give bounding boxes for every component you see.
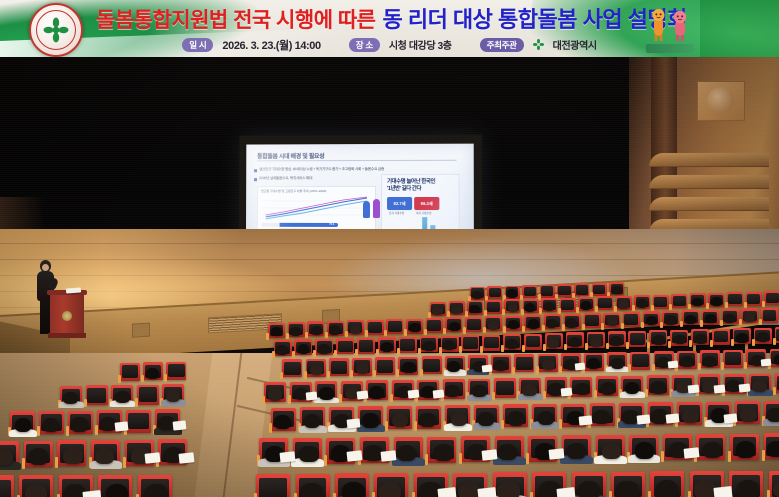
right-headline: 기대수명 늘어난 한국인 '1년반' 길다 간다 bbox=[387, 179, 454, 193]
audience-member bbox=[646, 316, 657, 325]
audience-handout bbox=[477, 487, 496, 497]
wall-slat bbox=[649, 197, 769, 211]
audience-handout bbox=[433, 389, 445, 398]
theater-seat[interactable] bbox=[746, 292, 762, 306]
audience-member bbox=[665, 315, 676, 324]
place-value: 시청 대강당 3층 bbox=[389, 37, 452, 52]
audience-member bbox=[115, 391, 130, 403]
audience-handout bbox=[575, 362, 586, 370]
audience-member bbox=[674, 335, 686, 345]
theater-seat[interactable] bbox=[628, 331, 646, 347]
audience-member bbox=[0, 449, 13, 465]
theater-seat[interactable] bbox=[282, 359, 302, 377]
audience-member bbox=[685, 315, 696, 324]
audience-member bbox=[469, 305, 480, 314]
audience-member bbox=[593, 410, 610, 424]
audience-member bbox=[508, 304, 519, 313]
audience-handout bbox=[279, 451, 295, 463]
audience-member bbox=[616, 481, 638, 497]
audience-member bbox=[342, 482, 364, 497]
audience-member bbox=[362, 413, 379, 427]
left-chart-caption: 연도별 기대수명 및 고령인구 비율 추이 (1970~2023) bbox=[261, 189, 327, 193]
audience-member bbox=[29, 448, 48, 464]
audience-member bbox=[397, 445, 416, 461]
theater-seat[interactable] bbox=[461, 335, 479, 351]
theater-seat[interactable] bbox=[487, 286, 502, 299]
theater-seat[interactable] bbox=[426, 318, 443, 333]
audience-member bbox=[711, 297, 722, 306]
audience-member bbox=[63, 448, 82, 464]
audience-handout bbox=[347, 418, 361, 428]
theater-seat[interactable] bbox=[560, 298, 576, 312]
slide-title-rule bbox=[257, 160, 456, 162]
audience-member bbox=[508, 411, 525, 425]
theater-seat[interactable] bbox=[357, 338, 375, 354]
audience-member bbox=[724, 314, 735, 323]
audience-handout bbox=[173, 421, 187, 431]
audience-member bbox=[409, 323, 420, 332]
audience-handout bbox=[438, 488, 457, 497]
theater-seat[interactable] bbox=[671, 294, 687, 308]
audience-member bbox=[268, 388, 283, 400]
theater-seat[interactable] bbox=[86, 385, 108, 405]
podium-papers bbox=[66, 287, 81, 293]
audience-member bbox=[300, 483, 322, 497]
audience-member bbox=[276, 345, 288, 355]
audience-handout bbox=[683, 447, 699, 459]
audience-handout bbox=[305, 392, 317, 401]
kpi-box-male: 82.7세 bbox=[387, 197, 412, 210]
theater-seat[interactable] bbox=[723, 350, 743, 368]
audience-member bbox=[478, 412, 495, 426]
audience-member bbox=[567, 443, 586, 459]
audience-member bbox=[703, 356, 716, 367]
place-label-pill: 장 소 bbox=[349, 38, 380, 52]
mascot-wordmark bbox=[646, 44, 694, 53]
theater-seat[interactable] bbox=[137, 385, 159, 405]
audience-member bbox=[635, 442, 654, 458]
slide-bullet-2: 2026년 실제돌봄수요, 복지서비스 확대 bbox=[259, 176, 312, 181]
audience-member bbox=[15, 418, 32, 432]
audience-handout bbox=[556, 487, 575, 497]
audience-member bbox=[318, 344, 330, 354]
kpi-box-female: 86.3세 bbox=[414, 197, 439, 210]
audience-member bbox=[522, 384, 537, 396]
host-value: 대전광역시 bbox=[553, 37, 597, 52]
audience-member bbox=[656, 480, 678, 497]
audience-handout bbox=[713, 384, 725, 393]
audience-handout bbox=[407, 390, 419, 399]
audience-member bbox=[740, 408, 757, 422]
audience-member bbox=[601, 382, 616, 394]
audience-member bbox=[378, 482, 400, 497]
audience-member bbox=[95, 448, 114, 464]
audience-handout bbox=[482, 364, 493, 372]
audience-member bbox=[610, 336, 622, 346]
theater-seat[interactable] bbox=[256, 474, 290, 497]
audience-member bbox=[402, 362, 415, 373]
audience-handout bbox=[668, 360, 679, 368]
audience-member bbox=[329, 325, 340, 334]
mascot-orange-icon bbox=[650, 8, 667, 42]
wooden-podium bbox=[50, 290, 84, 338]
audience-member bbox=[392, 413, 409, 427]
slide-title: 통합돌봄 시대 배경 및 필요성 bbox=[257, 151, 324, 160]
audience-member bbox=[423, 341, 435, 351]
left-line-chart bbox=[262, 195, 371, 221]
theater-seat[interactable] bbox=[514, 354, 534, 372]
podium-emblem-icon bbox=[62, 311, 72, 321]
audience-member bbox=[767, 441, 779, 457]
audience-handout bbox=[83, 490, 102, 497]
left-bar-item: 72.3 bbox=[262, 223, 371, 228]
audience-member bbox=[43, 418, 60, 432]
audience-member bbox=[767, 408, 779, 422]
audience-member bbox=[612, 286, 622, 294]
audience-member bbox=[350, 325, 361, 334]
theater-seat[interactable] bbox=[653, 295, 669, 309]
audience-member bbox=[703, 442, 722, 458]
theater-seat[interactable] bbox=[524, 334, 542, 350]
audience-member bbox=[590, 337, 602, 347]
audience-member bbox=[569, 337, 581, 347]
audience-member bbox=[271, 327, 282, 336]
audience-handout bbox=[724, 413, 738, 423]
theater-seat[interactable] bbox=[522, 285, 537, 298]
audience-member bbox=[744, 313, 755, 322]
audience-member bbox=[472, 385, 487, 397]
theater-seat[interactable] bbox=[386, 319, 403, 334]
audience-member bbox=[587, 358, 600, 369]
theater-seat[interactable] bbox=[727, 292, 743, 306]
host-label-pill: 주최주관 bbox=[480, 38, 524, 52]
audience-handout bbox=[579, 415, 593, 425]
theater-seat[interactable] bbox=[375, 357, 395, 375]
audience-member bbox=[653, 335, 665, 345]
audience-handout bbox=[714, 486, 733, 497]
theater-seat[interactable] bbox=[367, 320, 384, 335]
theater-seat[interactable] bbox=[336, 338, 354, 354]
theater-seat[interactable] bbox=[126, 410, 151, 433]
audience-member bbox=[451, 412, 468, 426]
wall-slat bbox=[649, 153, 769, 167]
audience-member bbox=[106, 484, 128, 497]
audience-member bbox=[356, 363, 369, 374]
audience-member bbox=[736, 441, 755, 457]
theater-seat[interactable] bbox=[597, 296, 613, 310]
audience-member bbox=[145, 484, 167, 497]
audience-member bbox=[146, 368, 159, 379]
theater-seat[interactable] bbox=[166, 362, 186, 380]
audience-member bbox=[695, 334, 707, 344]
theater-seat[interactable] bbox=[399, 337, 417, 353]
theater-seat[interactable] bbox=[557, 284, 572, 297]
audience-member bbox=[369, 386, 384, 398]
audience-member bbox=[63, 392, 78, 404]
audience-member bbox=[447, 361, 460, 372]
audience-handout bbox=[179, 452, 195, 464]
audience-handout bbox=[637, 414, 651, 424]
audience-member bbox=[542, 359, 555, 370]
audience-member bbox=[611, 358, 624, 369]
audience-member bbox=[737, 480, 759, 497]
audience-member bbox=[449, 322, 460, 331]
theater-seat[interactable] bbox=[422, 356, 442, 374]
audience-member bbox=[607, 317, 618, 326]
audience-member bbox=[547, 338, 559, 348]
audience-member bbox=[310, 364, 323, 375]
audience-member bbox=[508, 320, 519, 329]
theater-seat[interactable] bbox=[540, 285, 555, 298]
audience-member bbox=[528, 319, 539, 328]
audience-member bbox=[705, 314, 716, 323]
audience-member bbox=[290, 327, 301, 336]
audience-member bbox=[494, 360, 507, 371]
audience-member bbox=[319, 387, 334, 399]
theater-seat[interactable] bbox=[592, 283, 607, 296]
theater-seat[interactable] bbox=[465, 317, 482, 332]
wall-circle-panel bbox=[697, 81, 745, 121]
audience-member bbox=[651, 381, 666, 393]
audience-handout bbox=[688, 385, 700, 394]
audience-member bbox=[381, 342, 393, 352]
host-logo-icon bbox=[533, 39, 544, 50]
kpi-label-male: 남자 기대수명 bbox=[389, 211, 404, 215]
audience-member bbox=[736, 333, 748, 343]
audience-handout bbox=[760, 358, 771, 366]
audience-member bbox=[680, 356, 693, 367]
audience-member bbox=[311, 326, 322, 335]
auditorium-hall: 통합돌봄 시대 배경 및 필요성 생산인구 기대수명 향상, 65세이상 노령 … bbox=[0, 57, 779, 497]
audience-member bbox=[618, 300, 629, 309]
audience-handout bbox=[115, 421, 129, 431]
audience-member bbox=[497, 481, 519, 497]
audience-member bbox=[575, 383, 590, 395]
audience-handout bbox=[560, 387, 572, 396]
audience-member bbox=[692, 298, 703, 307]
right-headline-line2: '1년반' 길다 간다 bbox=[387, 186, 421, 192]
audience-member bbox=[637, 299, 648, 308]
audience-member bbox=[602, 443, 621, 459]
slide-bullet-1: 생산인구 기대수명 향상, 65세이상 노령 + 독거가구수 증가 + 초고령화… bbox=[259, 167, 384, 172]
audience-member bbox=[298, 344, 310, 354]
audience-member bbox=[299, 446, 318, 462]
audience-member bbox=[757, 332, 769, 342]
audience-member bbox=[166, 390, 181, 402]
audience-member bbox=[507, 289, 517, 297]
audience-member bbox=[682, 409, 699, 423]
banner-title-red: 돌봄통합지원법 전국 시행에 따른 bbox=[96, 9, 375, 32]
wall-slat bbox=[649, 175, 769, 189]
audience-handout bbox=[481, 449, 497, 461]
theater-seat[interactable] bbox=[761, 308, 778, 323]
audience-member bbox=[625, 382, 640, 394]
theater-seat[interactable] bbox=[486, 300, 502, 314]
theater-seat[interactable] bbox=[584, 313, 601, 328]
audience-member bbox=[25, 484, 47, 497]
audience-member bbox=[525, 303, 536, 312]
audience-member bbox=[578, 481, 600, 497]
theater-seat[interactable] bbox=[574, 283, 589, 296]
audience-member bbox=[304, 414, 321, 428]
audience-member bbox=[434, 444, 453, 460]
theater-seat[interactable] bbox=[775, 327, 779, 343]
audience-member bbox=[443, 340, 455, 350]
theater-seat[interactable] bbox=[630, 352, 650, 370]
event-banner: 돌봄통합지원법 전국 시행에 따른동 리더 대상 통합돌봄 사업 설명회 일 시… bbox=[0, 0, 779, 57]
audience-member bbox=[498, 444, 517, 460]
audience-member bbox=[419, 413, 436, 427]
audience-member bbox=[445, 385, 460, 397]
audience-member bbox=[566, 318, 577, 327]
audience-member bbox=[432, 306, 443, 315]
audience-member bbox=[472, 291, 482, 299]
auditorium-seminar-photo: 돌봄통합지원법 전국 시행에 따른동 리더 대상 통합돌봄 사업 설명회 일 시… bbox=[0, 0, 779, 497]
banner-title: 돌봄통합지원법 전국 시행에 따른동 리더 대상 통합돌봄 사업 설명회 bbox=[96, 6, 656, 34]
right-headline-line1: 기대수명 늘어난 한국인 bbox=[387, 179, 435, 185]
audience-handout bbox=[356, 391, 368, 400]
audience-member bbox=[71, 417, 88, 431]
audience-member bbox=[546, 319, 557, 328]
audience-member bbox=[544, 302, 555, 311]
audience-member bbox=[451, 305, 462, 314]
date-label-pill: 일 시 bbox=[182, 38, 213, 52]
theater-seat[interactable] bbox=[494, 378, 516, 398]
theater-seat[interactable] bbox=[0, 475, 14, 497]
theater-seat[interactable] bbox=[482, 335, 500, 351]
banner-title-blue: 동 리더 대상 통합돌봄 사업 설명회 bbox=[382, 7, 686, 32]
mascot-pink-icon bbox=[671, 10, 689, 42]
theater-seat[interactable] bbox=[764, 291, 779, 305]
audience-member bbox=[274, 415, 291, 429]
theater-seat[interactable] bbox=[623, 312, 640, 327]
audience-member bbox=[506, 339, 518, 349]
audience-handout bbox=[380, 450, 396, 462]
audience-member bbox=[752, 380, 767, 392]
theater-seat[interactable] bbox=[329, 358, 349, 376]
audience-member bbox=[774, 354, 779, 365]
theater-seat[interactable] bbox=[120, 363, 140, 381]
date-value: 2026. 3. 23.(월) 14:00 bbox=[222, 37, 320, 53]
theater-seat[interactable] bbox=[712, 329, 730, 345]
audience-member bbox=[488, 321, 499, 330]
audience-member bbox=[538, 411, 555, 425]
audience-member bbox=[581, 301, 592, 310]
